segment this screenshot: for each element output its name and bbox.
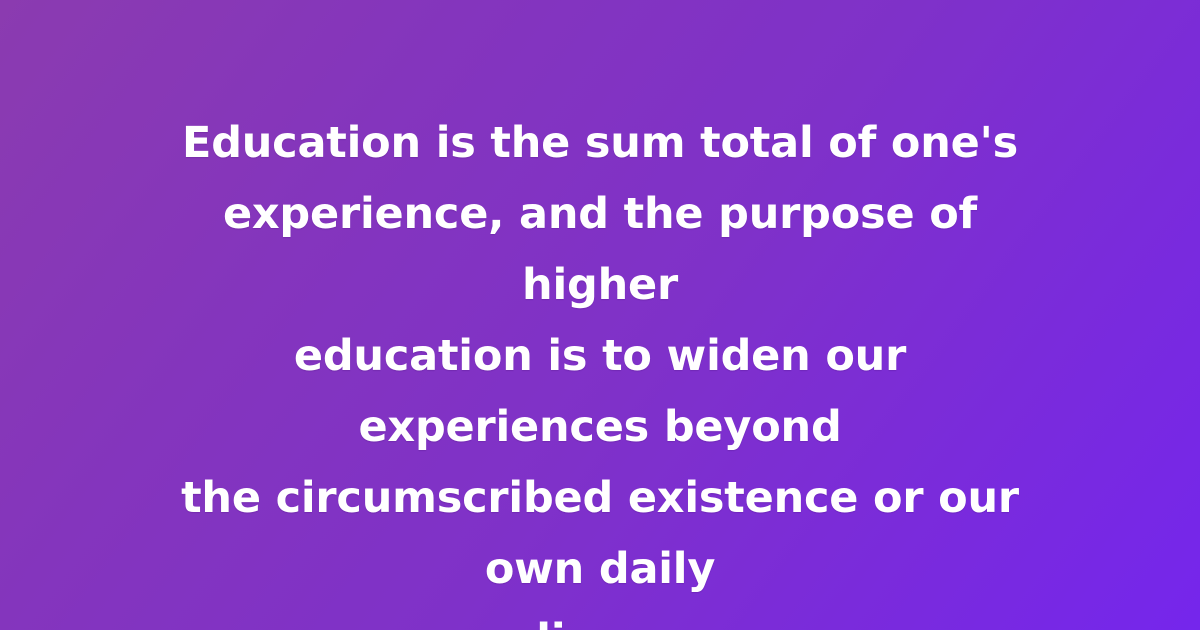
quote-card: Education is the sum total of one's expe… (0, 0, 1200, 630)
quote-text-container: Education is the sum total of one's expe… (160, 108, 1040, 630)
quote-text: Education is the sum total of one's expe… (160, 108, 1040, 630)
